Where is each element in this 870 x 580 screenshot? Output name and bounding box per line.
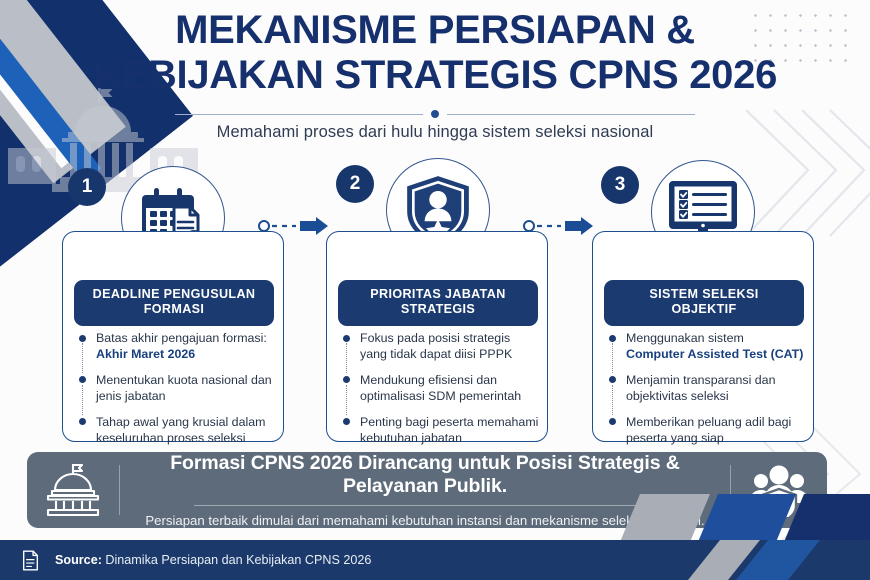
bullet-dot-icon — [343, 335, 350, 342]
bullet-dot-icon — [609, 335, 616, 342]
divider-rule-right — [447, 114, 695, 116]
bullet-text: Menggunakan sistem — [626, 331, 744, 345]
page-title: MEKANISME PERSIAPAN & KEBIJAKAN STRATEGI… — [0, 8, 870, 98]
footer-document-icon-wrap — [22, 550, 39, 571]
step-2-title-line-1: PRIORITAS JABATAN — [370, 287, 505, 301]
list-item: Mendukung efisiensi dan optimalisasi SDM… — [341, 372, 539, 405]
list-item: Menggunakan sistem Computer Assisted Tes… — [607, 330, 805, 363]
title-line-2: KEBIJAKAN STRATEGIS CPNS 2026 — [0, 53, 870, 98]
step-1-title-line-1: DEADLINE PENGUSULAN — [93, 287, 256, 301]
bullet-connector-line — [82, 343, 83, 373]
step-card-2[interactable]: PRIORITAS JABATAN STRATEGIS Fokus pada p… — [326, 231, 548, 442]
bullet-text: Menentukan kuota nasional dan jenis jaba… — [96, 372, 275, 405]
bullet-connector-line — [82, 385, 83, 415]
bullet-connector-line — [612, 343, 613, 373]
list-item: Penting bagi peserta memahami kebutuhan … — [341, 414, 539, 447]
bullet-text: Fokus pada posisi strategis yang tidak d… — [360, 330, 539, 363]
government-building-icon — [42, 463, 104, 517]
step-3-title: SISTEM SELEKSI OBJEKTIF — [604, 280, 804, 326]
bullet-text: Tahap awal yang krusial dalam keseluruha… — [96, 414, 275, 447]
bullet-text: Mendukung efisiensi dan optimalisasi SDM… — [360, 372, 539, 405]
footer-corner-bands — [610, 540, 870, 580]
bullet-connector-line — [346, 385, 347, 415]
bullet-dot-icon — [343, 418, 350, 425]
bullet-text: Penting bagi peserta memahami kebutuhan … — [360, 414, 539, 447]
step-2-title: PRIORITAS JABATAN STRATEGIS — [338, 280, 538, 326]
step-2-number-badge: 2 — [336, 165, 374, 203]
bullet-highlight: Akhir Maret 2026 — [96, 347, 195, 361]
banner-building-icon-wrap — [27, 463, 119, 517]
step-1-bullet-list: Batas akhir pengajuan formasi: Akhir Mar… — [77, 330, 275, 446]
banner-title: Formasi CPNS 2026 Dirancang untuk Posisi… — [128, 452, 721, 498]
list-item: Memberikan peluang adil bagi peserta yan… — [607, 414, 805, 447]
step-1-title-line-2: FORMASI — [144, 302, 205, 316]
document-icon — [22, 550, 39, 571]
source-value: Dinamika Persiapan dan Kebijakan CPNS 20… — [105, 553, 371, 567]
summary-banner: Formasi CPNS 2026 Dirancang untuk Posisi… — [27, 452, 827, 528]
step-1-number-badge: 1 — [68, 168, 106, 206]
bullet-text: Menjamin transparansi dan objektivitas s… — [626, 372, 805, 405]
bullet-dot-icon — [609, 418, 616, 425]
footer-bar: Source: Dinamika Persiapan dan Kebijakan… — [0, 540, 870, 580]
step-2-title-line-2: STRATEGIS — [401, 302, 475, 316]
title-line-1: MEKANISME PERSIAPAN & — [0, 8, 870, 53]
page-subtitle: Memahami proses dari hulu hingga sistem … — [0, 123, 870, 142]
banner-people-icon-wrap — [731, 463, 827, 517]
banner-text-block: Formasi CPNS 2026 Dirancang untuk Posisi… — [120, 452, 729, 528]
header: MEKANISME PERSIAPAN & KEBIJAKAN STRATEGI… — [0, 8, 870, 142]
list-item: Fokus pada posisi strategis yang tidak d… — [341, 330, 539, 363]
source-text: Source: Dinamika Persiapan dan Kebijakan… — [55, 553, 371, 567]
bullet-dot-icon — [79, 418, 86, 425]
list-item: Menentukan kuota nasional dan jenis jaba… — [77, 372, 275, 405]
bullet-dot-icon — [343, 376, 350, 383]
bullet-dot-icon — [609, 376, 616, 383]
list-item: Menjamin transparansi dan objektivitas s… — [607, 372, 805, 405]
step-3-number-badge: 3 — [601, 166, 639, 204]
bullet-connector-line — [346, 343, 347, 373]
banner-subtitle: Persiapan terbaik dimulai dari memahami … — [128, 513, 721, 528]
bullet-dot-icon — [79, 376, 86, 383]
list-item: Batas akhir pengajuan formasi: Akhir Mar… — [77, 330, 275, 363]
step-1-title: DEADLINE PENGUSULAN FORMASI — [74, 280, 274, 326]
bullet-dot-icon — [79, 335, 86, 342]
step-2-bullet-list: Fokus pada posisi strategis yang tidak d… — [341, 330, 539, 446]
list-item: Tahap awal yang krusial dalam keseluruha… — [77, 414, 275, 447]
bullet-text: Memberikan peluang adil bagi peserta yan… — [626, 414, 805, 447]
step-card-3[interactable]: SISTEM SELEKSI OBJEKTIF Menggunakan sist… — [592, 231, 814, 442]
banner-inner-rule — [194, 505, 657, 506]
divider-rule-left — [175, 114, 423, 116]
step-card-1[interactable]: DEADLINE PENGUSULAN FORMASI Batas akhir … — [62, 231, 284, 442]
step-3-bullet-list: Menggunakan sistem Computer Assisted Tes… — [607, 330, 805, 446]
infographic-canvas: MEKANISME PERSIAPAN & KEBIJAKAN STRATEGI… — [0, 0, 870, 580]
step-3-title-line-2: OBJEKTIF — [671, 302, 736, 316]
bullet-connector-line — [612, 385, 613, 415]
steps-row: DEADLINE PENGUSULAN FORMASI Batas akhir … — [0, 231, 870, 446]
bullet-highlight: Computer Assisted Test (CAT) — [626, 347, 803, 361]
people-shield-icon — [747, 463, 811, 517]
title-divider — [175, 110, 695, 118]
step-3-title-line-1: SISTEM SELEKSI — [649, 287, 758, 301]
bullet-text: Batas akhir pengajuan formasi: — [96, 331, 267, 345]
source-label: Source: — [55, 553, 102, 567]
divider-dot — [431, 110, 439, 118]
